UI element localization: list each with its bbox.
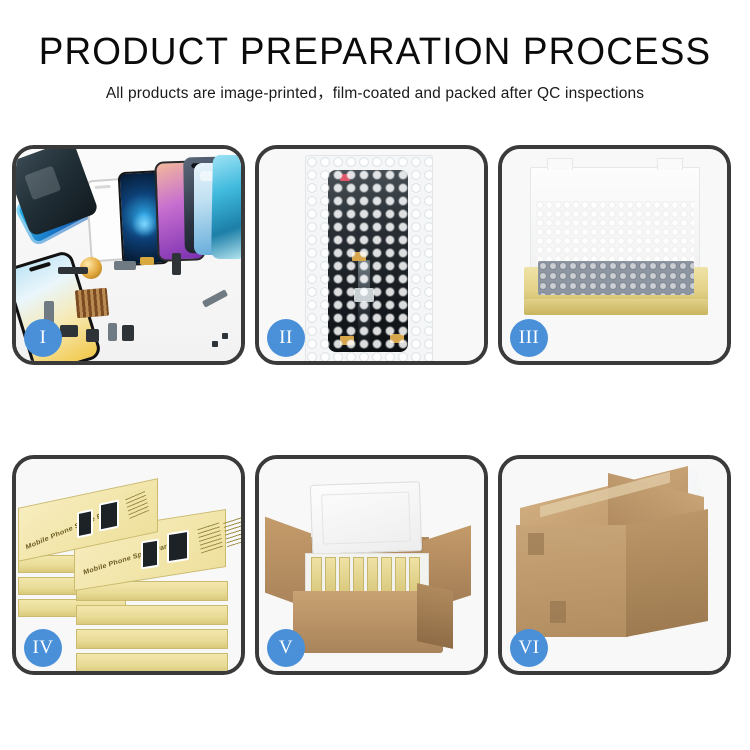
bubble-wrapped-screen-icon: [538, 261, 694, 295]
bubble-wrap-overlay-icon: [306, 156, 432, 361]
step-badge-4: IV: [24, 629, 62, 667]
gold-contact-icon: [140, 257, 154, 265]
process-step-4: Mobile Phone Spare Parts Mobile Phone Sp…: [12, 455, 245, 675]
step-badge-3: III: [510, 319, 548, 357]
carton-side-face-icon: [626, 509, 708, 637]
scene-lcd-in-bubble-wrap: II: [259, 149, 484, 361]
product-preparation-infographic: PRODUCT PREPARATION PROCESS All products…: [0, 0, 750, 750]
packed-retail-box-icon: [367, 557, 378, 595]
carton-seam-tab-icon: [550, 601, 566, 623]
box-spec-lines-icon: [125, 488, 150, 519]
packed-retail-box-icon: [311, 557, 322, 595]
process-step-grid: I II: [12, 145, 738, 675]
packed-retail-box-icon: [325, 557, 336, 595]
carton-side-wall-icon: [417, 583, 453, 649]
screw-icon: [212, 341, 218, 347]
sim-tray-icon: [108, 323, 117, 341]
lid-tab-icon: [547, 158, 573, 170]
process-step-6: VI: [498, 455, 731, 675]
packed-retail-box-icon: [339, 557, 350, 595]
camera-module-icon: [86, 329, 99, 342]
box-product-photo-icon: [99, 499, 119, 531]
process-step-2: II: [255, 145, 488, 365]
battery-connector-icon: [122, 325, 134, 341]
lid-tab-icon: [657, 158, 683, 170]
step-badge-5: V: [267, 629, 305, 667]
volume-flex-icon: [172, 253, 181, 275]
step-badge-1: I: [24, 319, 62, 357]
box-product-photo-icon: [167, 530, 189, 563]
kraft-tray-front-icon: [524, 299, 708, 315]
box-spec-lines-icon: [223, 516, 241, 547]
flex-cable-icon: [58, 267, 88, 274]
page-subtitle: All products are image-printed，film-coat…: [0, 84, 750, 104]
bubble-wrap-sleeve-icon: [305, 155, 433, 361]
process-step-3: III: [498, 145, 731, 365]
scene-stacked-retail-boxes: Mobile Phone Spare Parts Mobile Phone Sp…: [16, 459, 241, 671]
packed-retail-box-icon: [353, 557, 364, 595]
step-badge-6: VI: [510, 629, 548, 667]
scene-sealed-shipping-carton: VI: [502, 459, 727, 671]
step-badge-2: II: [267, 319, 305, 357]
scene-phones-and-spare-parts: I: [16, 149, 241, 361]
white-foam-sheet-icon: [536, 201, 694, 265]
phone-cyan-icon: [211, 155, 241, 260]
logic-board-grid-icon: [75, 288, 109, 319]
carton-seam-tab-icon: [528, 533, 544, 555]
packed-retail-box-icon: [381, 557, 392, 595]
page-title: PRODUCT PREPARATION PROCESS: [11, 30, 739, 74]
process-step-1: I: [12, 145, 245, 365]
screw-icon: [222, 333, 228, 339]
scene-carton-with-boxes: V: [259, 459, 484, 671]
process-step-5: V: [255, 455, 488, 675]
box-product-photo-icon: [77, 509, 93, 538]
box-spec-lines-icon: [197, 522, 223, 554]
retail-box-icon: [76, 629, 228, 649]
retail-box-icon: [76, 605, 228, 625]
scene-foam-lined-inner-box: III: [502, 149, 727, 361]
packed-retail-box-icon: [395, 557, 406, 595]
taptic-engine-icon: [60, 325, 78, 337]
header: PRODUCT PREPARATION PROCESS All products…: [0, 0, 750, 104]
retail-box-icon: [76, 653, 228, 671]
box-product-photo-icon: [141, 539, 159, 570]
box-label-text: Mobile Phone Spare Parts: [83, 541, 174, 576]
button-flex-icon: [114, 261, 136, 270]
styrofoam-lid-icon: [310, 481, 422, 555]
